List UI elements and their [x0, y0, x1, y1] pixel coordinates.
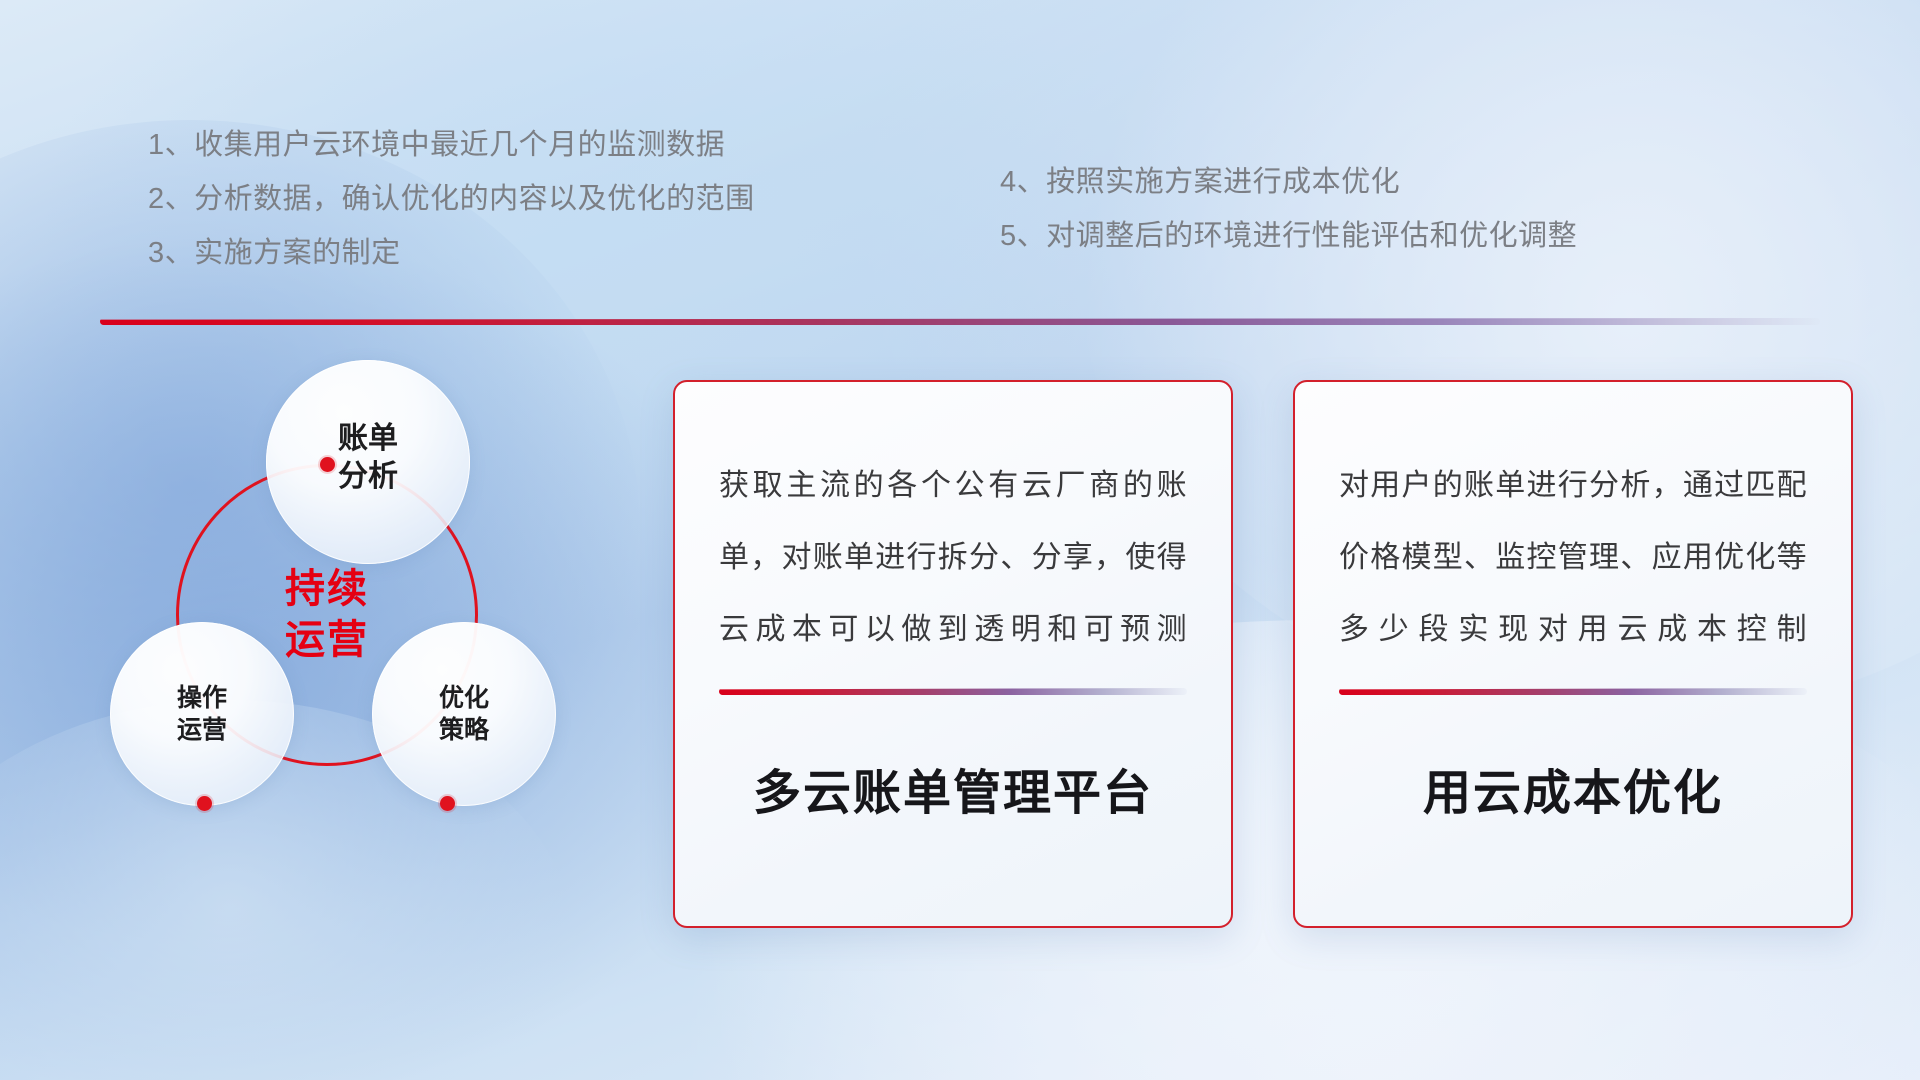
- section-divider-rule: [100, 318, 1820, 325]
- feature-card-multicloud-billing[interactable]: 获取主流的各个公有云厂商的账单，对账单进行拆分、分享，使得云成本可以做到透明和可…: [673, 380, 1233, 928]
- step-item-1: 1、收集用户云环境中最近几个月的监测数据: [148, 118, 755, 172]
- venn-node-dot-bottom-left: [197, 796, 212, 811]
- feature-card-cloud-cost-optimization[interactable]: 对用户的账单进行分析，通过匹配价格模型、监控管理、应用优化等多少段实现对用云成本…: [1293, 380, 1853, 928]
- step-item-4: 4、按照实施方案进行成本优化: [1000, 155, 1577, 209]
- step-item-3: 3、实施方案的制定: [148, 226, 755, 280]
- venn-center-line2: 运营: [285, 615, 369, 666]
- venn-node-dot-bottom-right: [440, 796, 455, 811]
- step-item-5: 5、对调整后的环境进行性能评估和优化调整: [1000, 209, 1577, 263]
- venn-lobe-label-line1: 账单: [338, 420, 398, 458]
- venn-node-dot-top: [320, 457, 335, 472]
- steps-column-left: 1、收集用户云环境中最近几个月的监测数据 2、分析数据，确认优化的内容以及优化的…: [148, 118, 755, 280]
- feature-card-title: 多云账单管理平台: [719, 753, 1187, 823]
- feature-card-list: 获取主流的各个公有云厂商的账单，对账单进行拆分、分享，使得云成本可以做到透明和可…: [673, 380, 1853, 928]
- feature-card-divider: [719, 688, 1187, 695]
- feature-card-body: 获取主流的各个公有云厂商的账单，对账单进行拆分、分享，使得云成本可以做到透明和可…: [719, 450, 1187, 666]
- slide-canvas: 1、收集用户云环境中最近几个月的监测数据 2、分析数据，确认优化的内容以及优化的…: [0, 0, 1920, 1080]
- feature-card-title: 用云成本优化: [1339, 753, 1807, 823]
- steps-section: 1、收集用户云环境中最近几个月的监测数据 2、分析数据，确认优化的内容以及优化的…: [0, 0, 1920, 300]
- steps-column-right: 4、按照实施方案进行成本优化 5、对调整后的环境进行性能评估和优化调整: [1000, 155, 1577, 263]
- venn-center-label: 持续 运营: [176, 464, 478, 766]
- feature-card-body: 对用户的账单进行分析，通过匹配价格模型、监控管理、应用优化等多少段实现对用云成本…: [1339, 450, 1807, 666]
- venn-center-line1: 持续: [285, 564, 369, 615]
- venn-diagram: 账单 分析 操作 运营 优化 策略 持续 运营: [90, 360, 610, 930]
- feature-card-divider: [1339, 688, 1807, 695]
- step-item-2: 2、分析数据，确认优化的内容以及优化的范围: [148, 172, 755, 226]
